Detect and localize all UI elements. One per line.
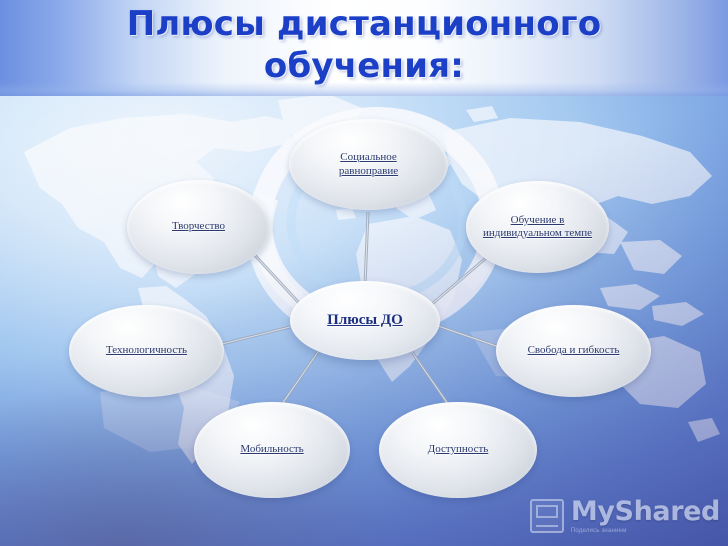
node-label: Технологичность bbox=[106, 344, 187, 357]
node-creativity[interactable]: Творчество bbox=[127, 180, 270, 274]
node-label: Свобода и гибкость bbox=[528, 344, 620, 357]
myshared-watermark: MyShared Поделись знанием bbox=[530, 498, 720, 534]
node-label: Творчество bbox=[172, 220, 225, 233]
node-technological[interactable]: Технологичность bbox=[69, 305, 224, 397]
myshared-logo-icon bbox=[530, 499, 564, 533]
node-label: Доступность bbox=[428, 443, 489, 456]
watermark-name: MyShared bbox=[571, 498, 720, 525]
node-label: Плюсы ДО bbox=[327, 311, 403, 329]
node-social-equality[interactable]: Социальное равноправие bbox=[289, 119, 448, 210]
page-title: Плюсы дистанционного обучения: bbox=[0, 4, 728, 88]
node-label: Социальное равноправие bbox=[339, 151, 398, 178]
node-accessibility[interactable]: Доступность bbox=[379, 402, 537, 498]
title-banner: Плюсы дистанционного обучения: bbox=[0, 0, 728, 96]
node-label: Обучение в индивидуальном темпе bbox=[483, 214, 592, 241]
myshared-wordmark: MyShared Поделись знанием bbox=[571, 498, 720, 534]
node-mobility[interactable]: Мобильность bbox=[194, 402, 350, 498]
node-center-plusy-do[interactable]: Плюсы ДО bbox=[290, 281, 440, 360]
watermark-subtitle: Поделись знанием bbox=[571, 528, 720, 534]
node-freedom-flexibility[interactable]: Свобода и гибкость bbox=[496, 305, 651, 397]
node-label: Мобильность bbox=[240, 443, 303, 456]
node-individual-pace[interactable]: Обучение в индивидуальном темпе bbox=[466, 181, 609, 273]
presentation-slide: Социальное равноправие Творчество Обучен… bbox=[0, 0, 728, 546]
